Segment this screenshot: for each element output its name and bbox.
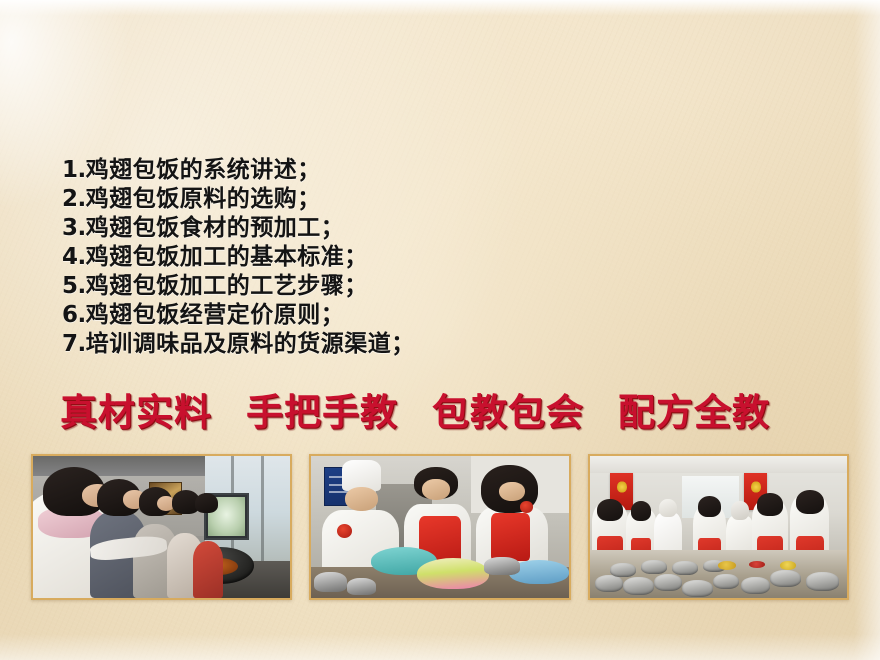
slogan-row: 真材实料 手把手教 包教包会 配方全教 — [60, 392, 850, 434]
list-item: 3.鸡翅包饭食材的预加工； — [62, 214, 762, 243]
list-item: 1.鸡翅包饭的系统讲述； — [62, 156, 762, 185]
list-item-label: 培训调味品及原料的货源渠道； — [86, 331, 415, 357]
slogan-phrase-3: 包教包会 — [432, 392, 584, 434]
list-item: 5.鸡翅包饭加工的工艺步骤； — [62, 272, 762, 301]
top-edge-glow — [0, 0, 880, 16]
list-item-label: 鸡翅包饭食材的预加工； — [86, 215, 345, 241]
list-item: 6.鸡翅包饭经营定价原则； — [62, 301, 762, 330]
list-item-number: 1. — [62, 156, 86, 185]
list-item-number: 6. — [62, 301, 86, 330]
photo-chef-instructing-students — [309, 454, 570, 600]
photo-classroom-group-practice — [588, 454, 849, 600]
slogan-phrase-2: 手把手教 — [246, 392, 398, 434]
bottom-edge-glow — [0, 634, 880, 660]
photo-2-canvas — [311, 456, 568, 598]
list-item-number: 4. — [62, 243, 86, 272]
slogan-phrase-1: 真材实料 — [60, 392, 212, 434]
photo-strip — [31, 454, 849, 600]
list-item-label: 鸡翅包饭加工的工艺步骤； — [86, 273, 368, 299]
course-outline-list: 1.鸡翅包饭的系统讲述； 2.鸡翅包饭原料的选购； 3.鸡翅包饭食材的预加工； … — [62, 156, 762, 359]
slogan-phrase-4: 配方全教 — [618, 392, 770, 434]
list-item-label: 鸡翅包饭加工的基本标准； — [86, 244, 368, 270]
list-item: 4.鸡翅包饭加工的基本标准； — [62, 243, 762, 272]
list-item-number: 2. — [62, 185, 86, 214]
photo-students-wok-stations — [31, 454, 292, 600]
list-item-label: 鸡翅包饭原料的选购； — [86, 186, 321, 212]
list-item: 7.培训调味品及原料的货源渠道； — [62, 330, 762, 359]
slide-canvas: 1.鸡翅包饭的系统讲述； 2.鸡翅包饭原料的选购； 3.鸡翅包饭食材的预加工； … — [0, 0, 880, 660]
right-edge-glow — [854, 0, 880, 660]
list-item-number: 3. — [62, 214, 86, 243]
list-item-label: 鸡翅包饭经营定价原则； — [86, 302, 345, 328]
list-item-label: 鸡翅包饭的系统讲述； — [86, 157, 321, 183]
photo-3-canvas — [590, 456, 847, 598]
list-item-number: 5. — [62, 272, 86, 301]
photo-1-canvas — [33, 456, 290, 598]
list-item-number: 7. — [62, 330, 86, 359]
list-item: 2.鸡翅包饭原料的选购； — [62, 185, 762, 214]
